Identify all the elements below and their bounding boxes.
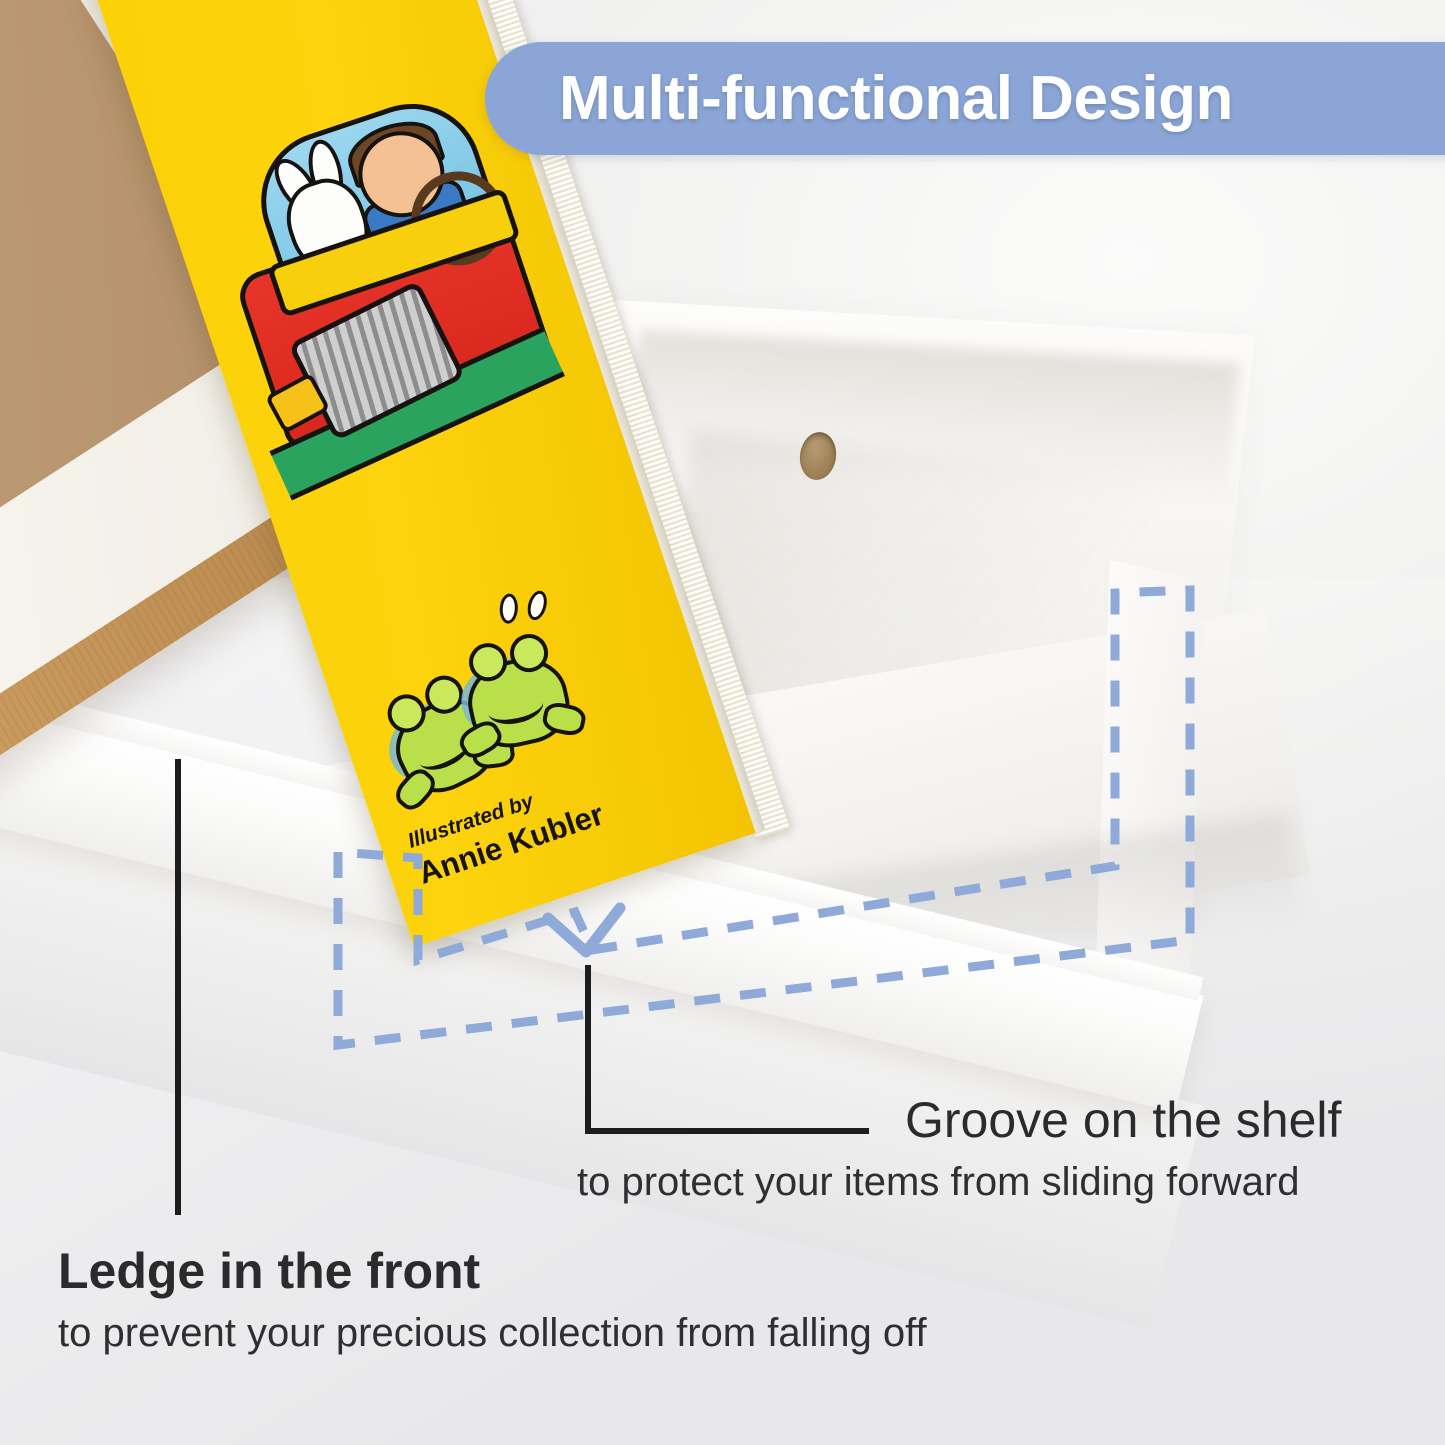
product-feature-image: Illustrated by Annie Kubler Multi-functi…: [0, 0, 1445, 1445]
callout-groove-subtitle: to protect your items from sliding forwa…: [577, 1158, 1341, 1206]
callout-ledge-title: Ledge in the front: [58, 1243, 927, 1299]
header-banner-label: Multi-functional Design: [559, 63, 1233, 134]
groove-leader-line: [588, 968, 866, 1131]
callout-groove: Groove on the shelf to protect your item…: [905, 1092, 1341, 1206]
callout-ledge: Ledge in the front to prevent your preci…: [58, 1243, 927, 1357]
callout-ledge-subtitle: to prevent your precious collection from…: [58, 1309, 927, 1357]
annotation-overlay: [0, 0, 1445, 1445]
callout-groove-title: Groove on the shelf: [905, 1092, 1341, 1148]
header-banner: Multi-functional Design: [485, 42, 1445, 155]
dashed-shelf-outline: [338, 590, 1190, 1045]
